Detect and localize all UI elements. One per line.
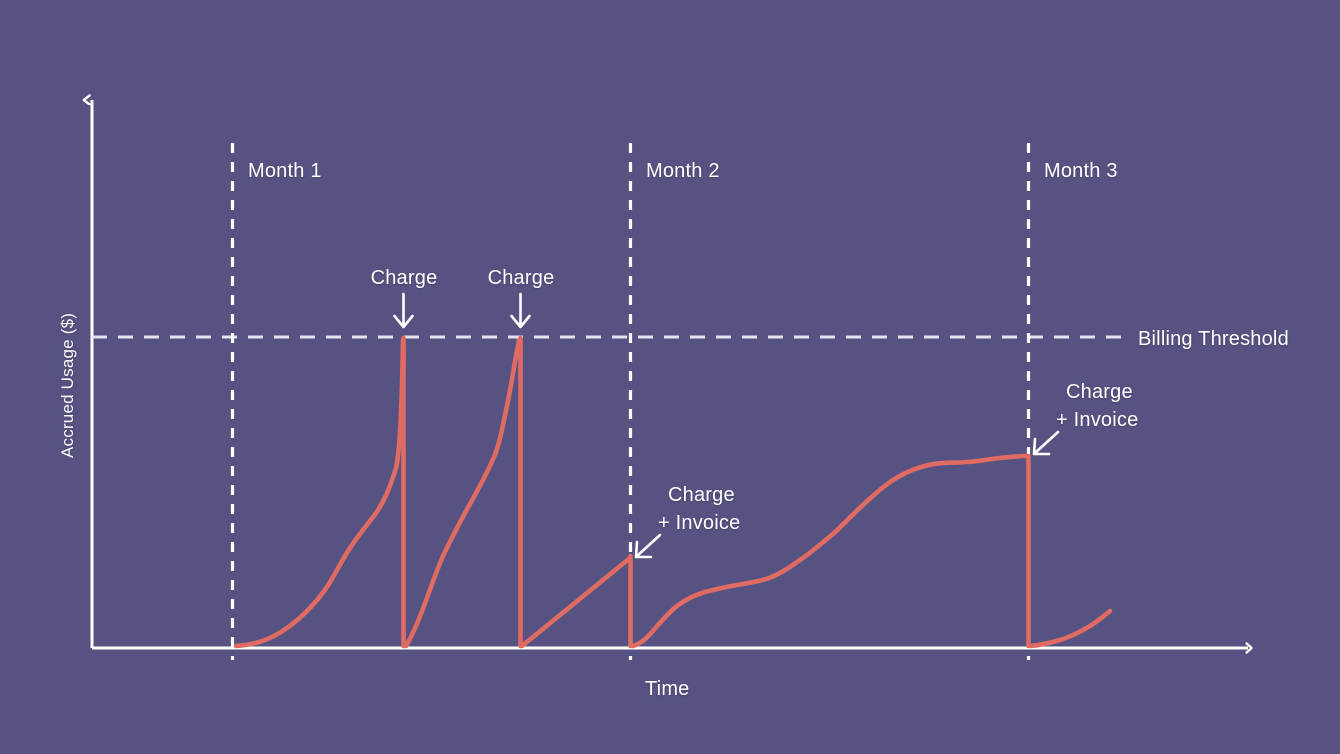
- charge-annotation-label-1: Charge: [366, 267, 442, 290]
- month-divider-label-1: Month 1: [248, 160, 322, 183]
- charge-invoice-arrow-1-icon: [636, 535, 660, 557]
- usage-curve-segment-2: [406, 340, 519, 646]
- charge-invoice-annotation-1: Charge + Invoice: [658, 484, 740, 535]
- y-axis-label: Accrued Usage ($): [58, 313, 78, 458]
- charge-annotation-label-2: Charge: [483, 267, 559, 290]
- chart-container: Accrued Usage ($) Time Month 1 Month 2 M…: [0, 0, 1340, 754]
- x-axis-label: Time: [645, 678, 690, 701]
- usage-curve-segment-5: [1031, 611, 1110, 646]
- usage-curve-segment-3: [522, 558, 630, 646]
- charge-invoice-annotation-2: Charge + Invoice: [1056, 381, 1138, 432]
- usage-curve-segment-1: [236, 340, 403, 646]
- charge-invoice-arrow-2-icon: [1034, 432, 1058, 454]
- charge-invoice-label-1-line1: Charge: [658, 484, 740, 507]
- billing-threshold-label: Billing Threshold: [1138, 328, 1289, 351]
- charge-invoice-label-2-line1: Charge: [1056, 381, 1138, 404]
- charge-arrow-down-1-icon: [395, 294, 413, 327]
- month-divider-label-3: Month 3: [1044, 160, 1118, 183]
- charge-arrow-down-2-icon: [512, 294, 530, 327]
- chart-canvas: [0, 0, 1340, 754]
- month-divider-label-2: Month 2: [646, 160, 720, 183]
- charge-invoice-label-2-line2: + Invoice: [1056, 409, 1138, 432]
- charge-invoice-label-1-line2: + Invoice: [658, 512, 740, 535]
